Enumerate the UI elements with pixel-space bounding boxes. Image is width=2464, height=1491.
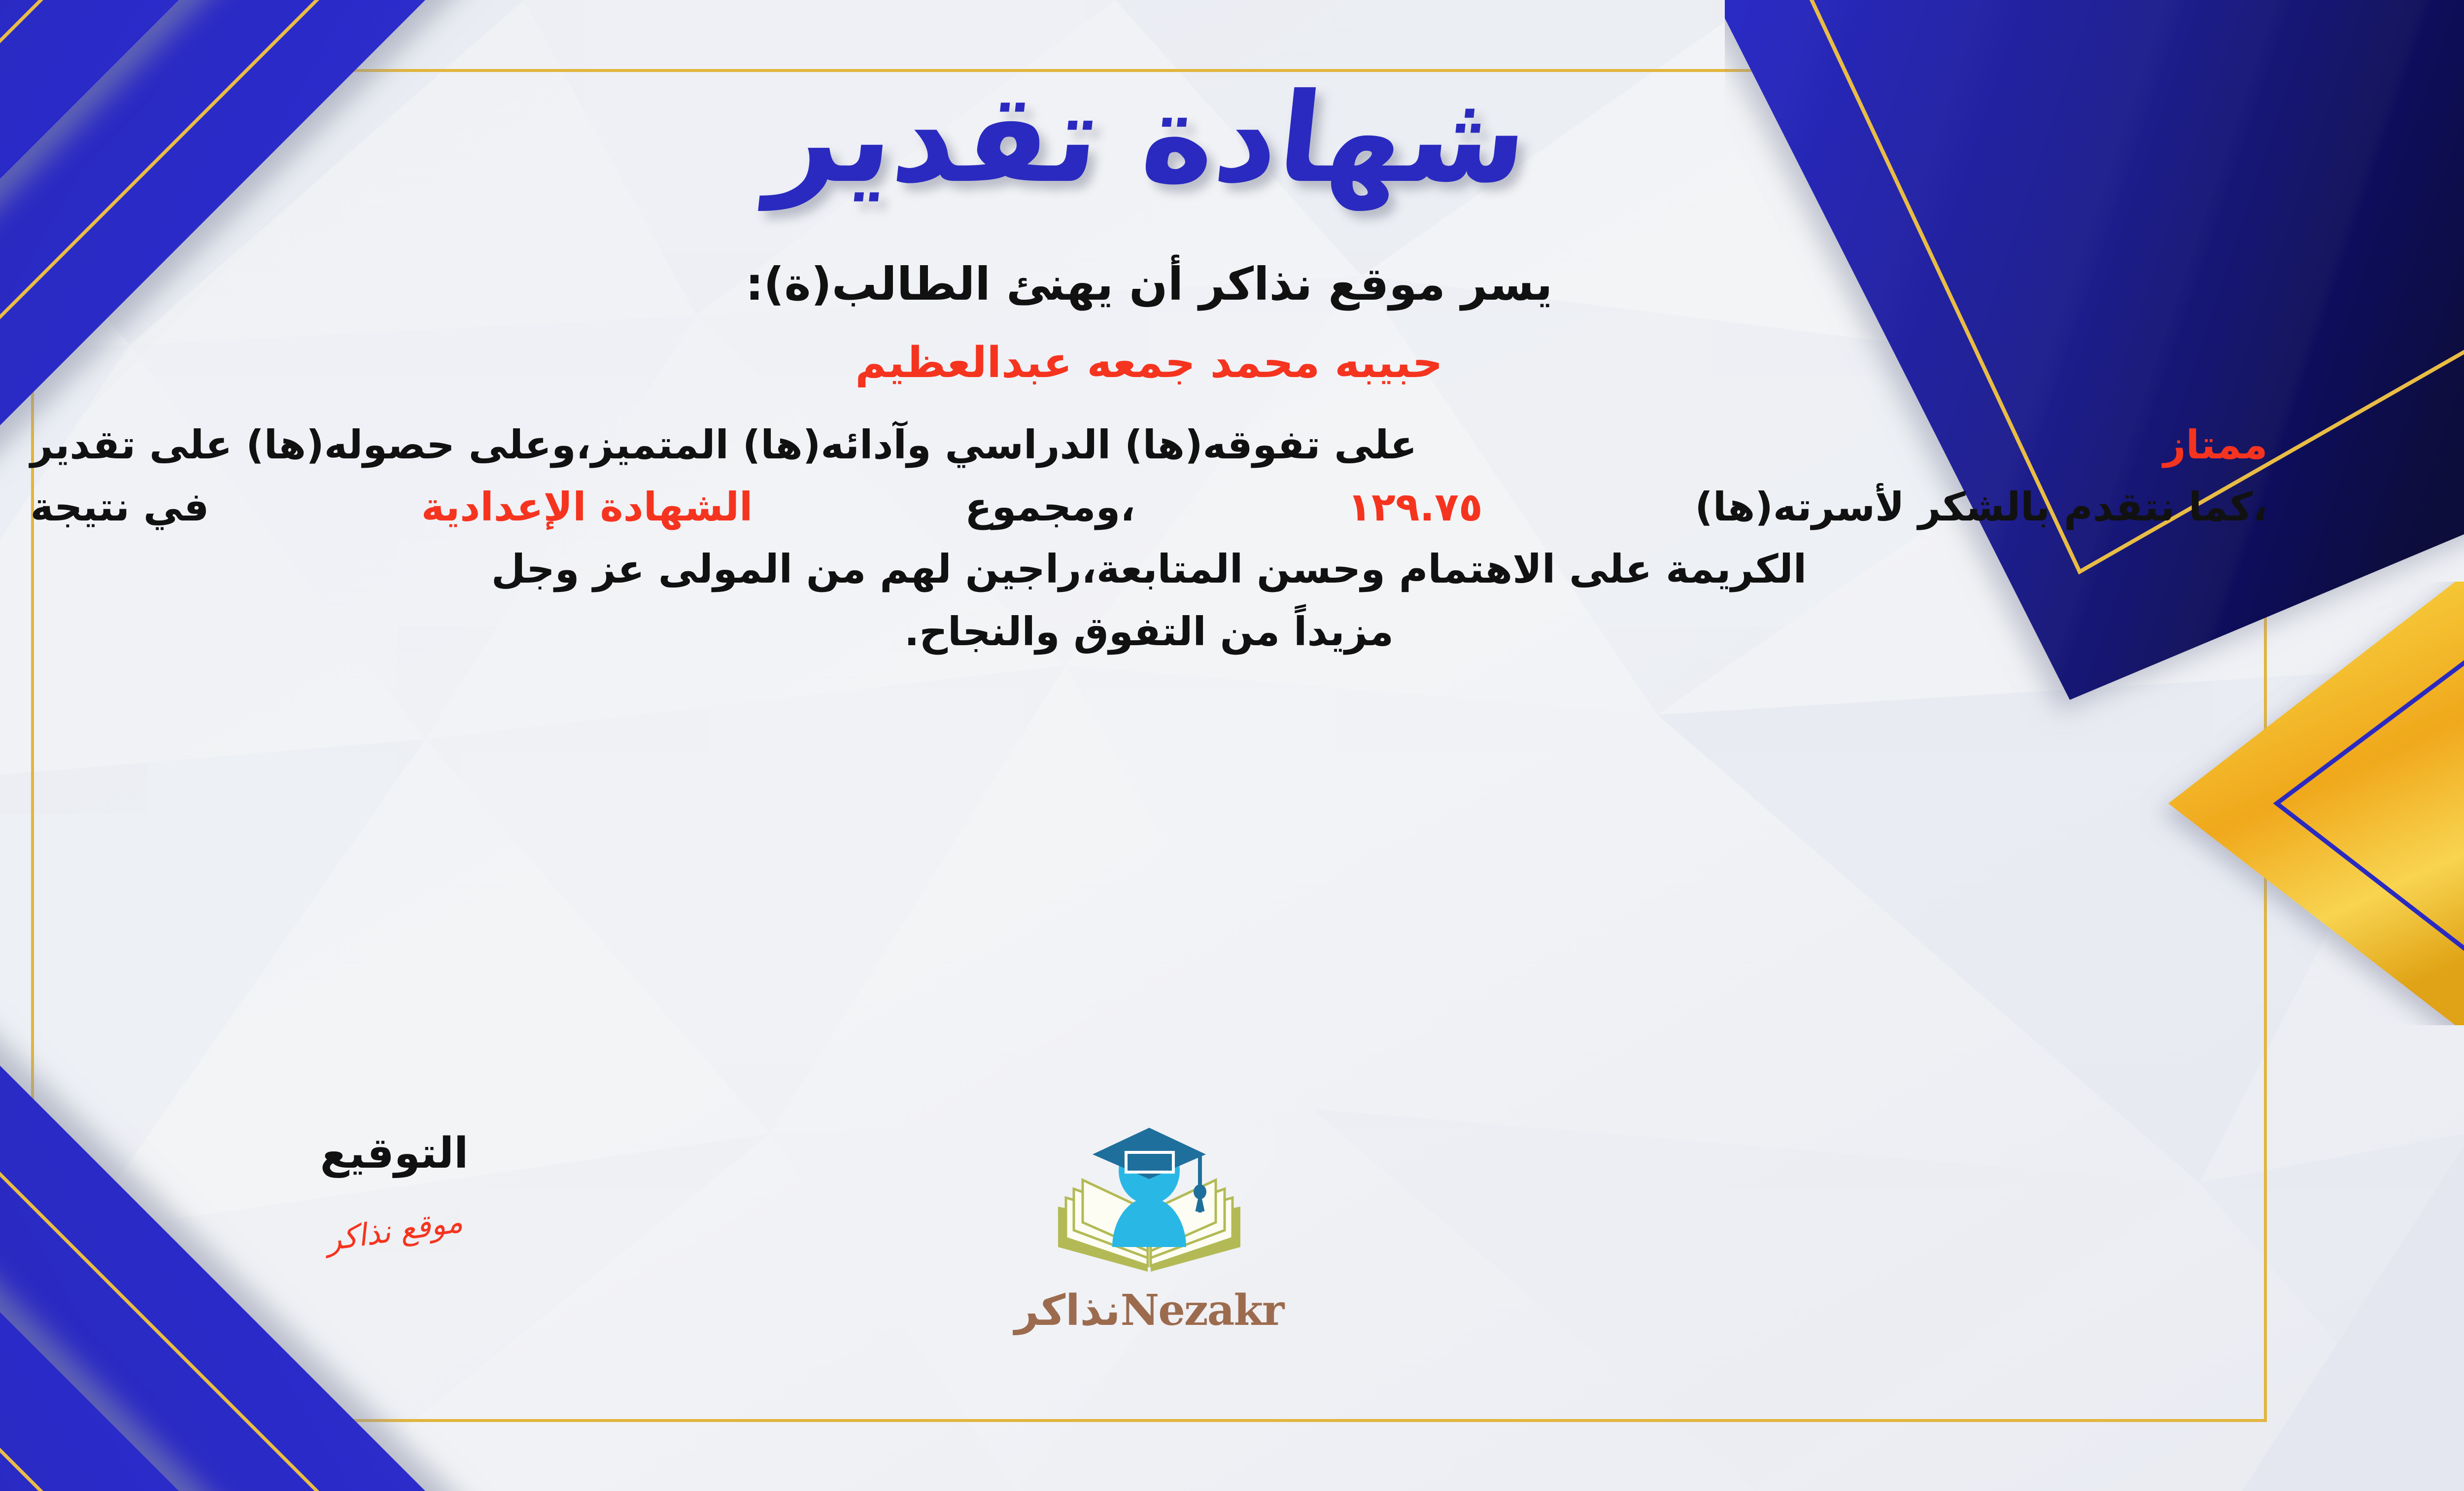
- signature-script: موقع نذاكر: [324, 1203, 465, 1258]
- certificate-title: شهادة تقدير: [764, 74, 1534, 204]
- total-score: ١٢٩.٧٥: [1347, 476, 1483, 538]
- brand-name-arabic: نذاكر: [1015, 1286, 1121, 1335]
- signature-block: التوقيع موقع نذاكر: [222, 1129, 567, 1248]
- body-line-3: الكريمة على الاهتمام وحسن المتابعة،راجين…: [31, 538, 2268, 600]
- brand-logo: Nezakrنذاكر: [962, 1124, 1336, 1335]
- certificate-page: شهادة تقدير يسر موقع نذاكر أن يهنئ الطال…: [0, 0, 2464, 1491]
- grade-value: ممتاز: [2163, 414, 2268, 476]
- exam-name: الشهادة الإعدادية: [421, 476, 753, 538]
- brand-name-latin: Nezakr: [1121, 1285, 1284, 1335]
- certificate-footer: التوقيع موقع نذاكر: [0, 1129, 2464, 1434]
- student-name: حبيبه محمد جمعه عبدالعظيم: [855, 338, 1442, 387]
- brand-wordmark: Nezakrنذاكر: [962, 1285, 1336, 1335]
- body-line-2-mid: ،ومجموع: [965, 476, 1135, 538]
- greeting-text: يسر موقع نذاكر أن يهنئ الطالب(ة):: [746, 258, 1553, 311]
- graduate-book-icon: [1043, 1124, 1255, 1286]
- body-line-1-text: على تفوقه(ها) الدراسي وآدائه(ها) المتميز…: [31, 414, 1417, 476]
- body-line-4: مزيداً من التفوق والنجاح.: [31, 601, 2268, 663]
- certificate-body: ممتاز على تفوقه(ها) الدراسي وآدائه(ها) ا…: [31, 414, 2268, 663]
- body-line-2-start: في نتيجة: [31, 476, 209, 538]
- body-line-1: ممتاز على تفوقه(ها) الدراسي وآدائه(ها) ا…: [31, 414, 2268, 476]
- body-line-2-end: ،كما نتقدم بالشكر لأسرته(ها): [1695, 476, 2267, 538]
- body-line-2: ،كما نتقدم بالشكر لأسرته(ها) ١٢٩.٧٥ ،ومج…: [31, 476, 2268, 538]
- signature-label: التوقيع: [222, 1129, 567, 1178]
